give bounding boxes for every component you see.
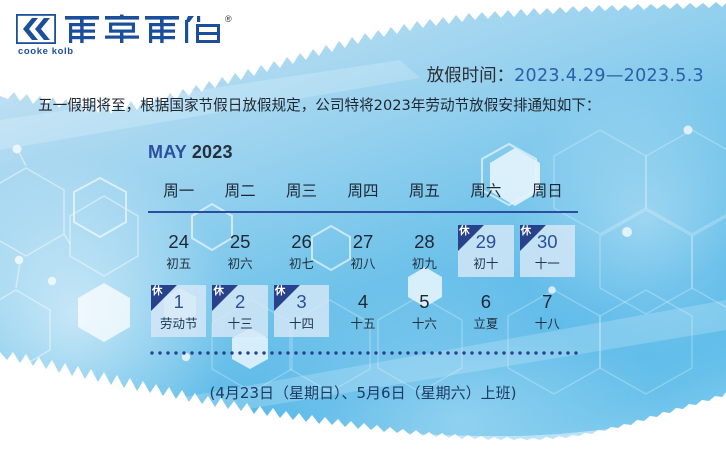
- brand-name-cn-logo-icon: [63, 14, 223, 44]
- day-lunar-label: 初六: [228, 256, 253, 271]
- day-number: 6: [481, 291, 491, 312]
- holiday-range-value: 2023.4.29—2023.5.3: [514, 66, 704, 86]
- weekday-header-thu: 周四: [332, 179, 393, 211]
- calendar-day-cell-rest[interactable]: 休 3 十四: [274, 285, 329, 337]
- holiday-range: 放假时间：2023.4.29—2023.5.3: [427, 62, 704, 87]
- calendar-day-cell[interactable]: 25 初六: [212, 225, 267, 277]
- calendar-day-cell[interactable]: 5 十六: [397, 285, 452, 337]
- day-number: 4: [358, 291, 368, 312]
- calendar-title: MAY 2023: [148, 142, 578, 163]
- day-lunar-label: 立夏: [473, 316, 498, 331]
- calendar-day-cell[interactable]: 26 初七: [274, 225, 329, 277]
- day-number: 25: [230, 231, 251, 252]
- calendar-year-label: 2023: [192, 142, 233, 162]
- day-number: 5: [419, 291, 429, 312]
- rest-day-flag-label: 休: [521, 225, 532, 238]
- day-lunar-label: 初九: [412, 256, 437, 271]
- rest-day-flag-label: 休: [152, 285, 163, 298]
- day-lunar-label: 初七: [289, 256, 314, 271]
- calendar-day-cell-rest[interactable]: 休 2 十三: [212, 285, 267, 337]
- day-number: 28: [414, 231, 435, 252]
- brand-logo: ® cooke kolb: [16, 14, 232, 57]
- day-lunar-label: 十四: [289, 316, 314, 331]
- day-lunar-label: 初十: [473, 256, 498, 271]
- day-number: 24: [168, 231, 189, 252]
- weekday-header-mon: 周一: [148, 179, 209, 211]
- calendar-week-row: 24 初五 25 初六 26 初七 27 初八 28 初九 休 29: [148, 225, 578, 285]
- day-lunar-label: 十一: [535, 256, 560, 271]
- rest-day-flag-label: 休: [213, 285, 224, 298]
- weekday-header-sun: 周日: [517, 179, 578, 211]
- rest-day-flag-icon: 休: [212, 285, 238, 311]
- day-number: 7: [542, 291, 552, 312]
- day-lunar-label: 十六: [412, 316, 437, 331]
- rest-day-flag-icon: 休: [520, 225, 546, 251]
- day-number: 27: [353, 231, 374, 252]
- weekday-header-tue: 周二: [209, 179, 270, 211]
- calendar-day-cell[interactable]: 27 初八: [335, 225, 390, 277]
- day-lunar-label: 初八: [350, 256, 375, 271]
- calendar-footer-dotted-divider: [148, 351, 578, 355]
- calendar-day-cell[interactable]: 24 初五: [151, 225, 206, 277]
- weekday-header-wed: 周三: [271, 179, 332, 211]
- holiday-range-label: 放假时间：: [427, 66, 515, 86]
- rest-day-flag-label: 休: [275, 285, 286, 298]
- calendar-weekday-header: 周一 周二 周三 周四 周五 周六 周日: [148, 179, 578, 211]
- day-lunar-label: 十三: [228, 316, 253, 331]
- rest-day-flag-label: 休: [459, 225, 470, 238]
- calendar: MAY 2023 周一 周二 周三 周四 周五 周六 周日 24 初五 25 初…: [148, 142, 578, 355]
- calendar-day-cell-rest[interactable]: 休 30 十一: [520, 225, 575, 277]
- brand-name-latin: cooke kolb: [18, 47, 232, 57]
- calendar-header-divider: [148, 211, 578, 213]
- calendar-day-cell[interactable]: 4 十五: [335, 285, 390, 337]
- calendar-day-cell[interactable]: 28 初九: [397, 225, 452, 277]
- day-lunar-label: 劳动节: [160, 316, 198, 331]
- rest-day-flag-icon: 休: [274, 285, 300, 311]
- workday-note: (4月23日（星期日）、5月6日（星期六）上班): [0, 382, 726, 403]
- holiday-notice-poster: ® cooke kolb 放假时间：2023.4.29—2023.5.3 五一假…: [0, 0, 726, 450]
- rest-day-flag-icon: 休: [458, 225, 484, 251]
- calendar-month-label: MAY: [148, 142, 187, 162]
- calendar-day-cell-rest[interactable]: 休 29 初十: [458, 225, 513, 277]
- day-lunar-label: 十五: [350, 316, 375, 331]
- weekday-header-fri: 周五: [394, 179, 455, 211]
- weekday-header-sat: 周六: [455, 179, 516, 211]
- double-chevron-logo-icon: [16, 14, 56, 44]
- calendar-day-cell[interactable]: 6 立夏: [458, 285, 513, 337]
- day-lunar-label: 十八: [535, 316, 560, 331]
- rest-day-flag-icon: 休: [151, 285, 177, 311]
- calendar-day-cell-rest[interactable]: 休 1 劳动节: [151, 285, 206, 337]
- calendar-week-row: 休 1 劳动节 休 2 十三 休 3 十四 4 十五 5 十六: [148, 285, 578, 345]
- calendar-day-cell[interactable]: 7 十八: [520, 285, 575, 337]
- registered-trademark-symbol: ®: [225, 15, 232, 24]
- day-number: 26: [291, 231, 312, 252]
- intro-paragraph: 五一假期将至，根据国家节假日放假规定，公司特将2023年劳动节放假安排通知如下：: [38, 94, 698, 118]
- day-lunar-label: 初五: [166, 256, 191, 271]
